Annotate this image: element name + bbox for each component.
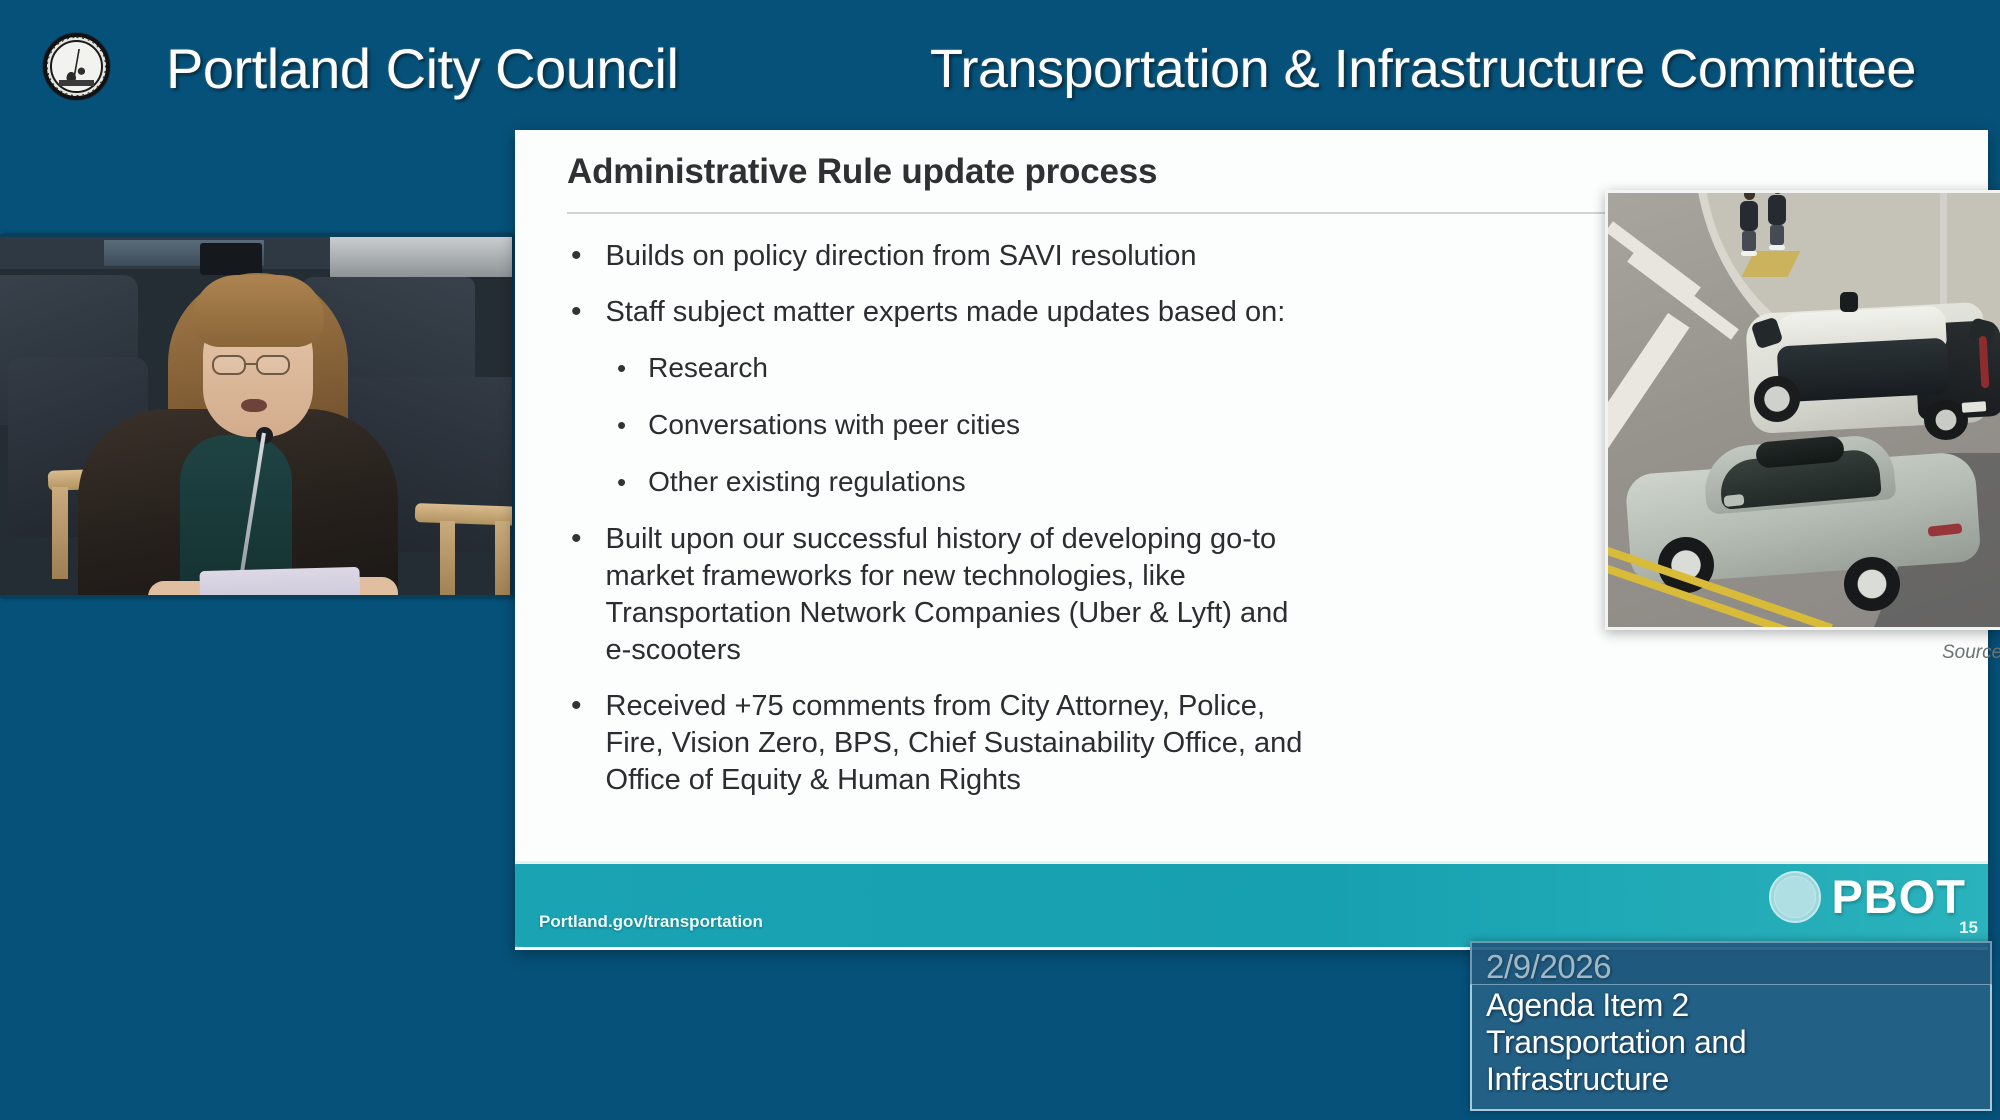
slide-photo: [1605, 190, 2000, 630]
presentation-slide: Administrative Rule update process • Bui…: [515, 130, 1988, 950]
broadcast-stage: Portland City Council Transportation & I…: [0, 0, 2000, 1120]
speaker-video-feed: [0, 234, 512, 598]
slide-footer: Portland.gov/transportation PBOT 15: [515, 861, 1988, 947]
bullet-item: • Builds on policy direction from SAVI r…: [571, 238, 1311, 275]
pbot-wordmark: PBOT: [1831, 873, 1966, 921]
bullet-dot-icon: •: [571, 521, 582, 669]
bullet-text: Received +75 comments from City Attorney…: [606, 688, 1311, 799]
agenda-caption-overlay: 2/9/2026 Agenda Item 2 Transportation an…: [1470, 941, 1992, 1111]
bullet-text: Research: [648, 350, 768, 386]
caption-agenda-line2: Transportation and: [1486, 1024, 1976, 1061]
slide-bullet-list: • Builds on policy direction from SAVI r…: [571, 238, 1311, 818]
pbot-logo: PBOT: [1769, 871, 1966, 923]
bullet-text: Builds on policy direction from SAVI res…: [606, 238, 1197, 275]
slide-number: 15: [1959, 918, 1978, 938]
sub-bullet-item: • Research: [617, 350, 1311, 386]
bullet-text: Built upon our successful history of dev…: [606, 521, 1311, 669]
caption-agenda-item: Agenda Item 2: [1486, 987, 1976, 1024]
slide-title: Administrative Rule update process: [567, 152, 1157, 192]
caption-agenda-line3: Infrastructure: [1486, 1061, 1976, 1098]
bullet-item: • Built upon our successful history of d…: [571, 521, 1311, 669]
bullet-item: • Received +75 comments from City Attorn…: [571, 688, 1311, 799]
photo-credit: Source: Zoox: [1760, 642, 2000, 664]
bullet-item: • Staff subject matter experts made upda…: [571, 294, 1311, 331]
bullet-text: Staff subject matter experts made update…: [606, 294, 1286, 331]
bullet-text: Conversations with peer cities: [648, 407, 1020, 443]
bullet-dot-icon: •: [617, 464, 626, 500]
council-title: Portland City Council: [166, 36, 678, 101]
bullet-text: Other existing regulations: [648, 464, 966, 500]
sub-bullet-item: • Conversations with peer cities: [617, 407, 1311, 443]
zoox-autonomous-vehicle: [1748, 298, 2000, 448]
portland-city-seal-icon: [43, 33, 110, 100]
caption-date: 2/9/2026: [1486, 947, 1976, 987]
pedestrian: [1768, 190, 1786, 250]
bullet-dot-icon: •: [571, 238, 582, 275]
sub-bullet-item: • Other existing regulations: [617, 464, 1311, 500]
bullet-dot-icon: •: [571, 688, 582, 799]
broadcast-header: Portland City Council Transportation & I…: [0, 0, 2000, 128]
pedestrian: [1740, 190, 1758, 256]
footer-url: Portland.gov/transportation: [539, 912, 763, 932]
suv-vehicle: [1628, 433, 1988, 613]
bullet-dot-icon: •: [617, 407, 626, 443]
bullet-dot-icon: •: [617, 350, 626, 386]
bullet-dot-icon: •: [571, 294, 582, 331]
committee-title: Transportation & Infrastructure Committe…: [930, 38, 1916, 100]
pbot-seal-icon: [1769, 871, 1821, 923]
